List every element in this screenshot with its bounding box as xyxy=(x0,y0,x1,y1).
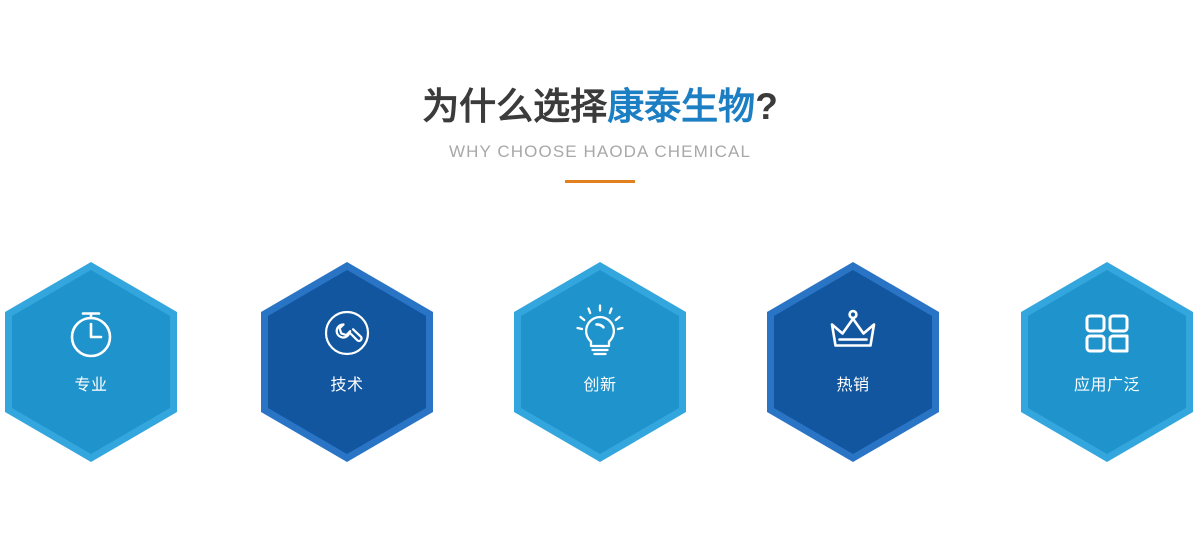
title-question-mark: ? xyxy=(755,86,778,127)
hexagon-content: 创新 xyxy=(514,262,686,462)
feature-label: 热销 xyxy=(836,376,869,396)
stopwatch-icon xyxy=(58,300,124,366)
wrench-circle-icon xyxy=(314,300,380,366)
feature-hexagon-热销[interactable]: 热销 xyxy=(767,262,939,462)
section-heading: 为什么选择康泰生物? WHY CHOOSE HAODA CHEMICAL xyxy=(0,82,1200,183)
feature-hexagon-技术[interactable]: 技术 xyxy=(261,262,433,462)
heading-divider xyxy=(565,180,635,183)
feature-hexagon-row: 专业 技术 xyxy=(0,262,1200,472)
feature-label: 应用广泛 xyxy=(1074,376,1140,396)
page-title: 为什么选择康泰生物? xyxy=(0,82,1200,132)
hexagon-content: 专业 xyxy=(5,262,177,462)
grid-squares-icon xyxy=(1074,300,1140,366)
section-subtitle: WHY CHOOSE HAODA CHEMICAL xyxy=(0,141,1200,163)
feature-hexagon-创新[interactable]: 创新 xyxy=(514,262,686,462)
hexagon-content: 应用广泛 xyxy=(1021,262,1193,462)
feature-label: 技术 xyxy=(330,376,363,396)
title-accent: 康泰生物 xyxy=(607,86,755,127)
hexagon-content: 技术 xyxy=(261,262,433,462)
hexagon-content: 热销 xyxy=(767,262,939,462)
crown-icon xyxy=(820,300,886,366)
title-prefix: 为什么选择 xyxy=(422,86,607,127)
feature-label: 专业 xyxy=(74,376,107,396)
feature-hexagon-应用广泛[interactable]: 应用广泛 xyxy=(1021,262,1193,462)
why-choose-us-section: 为什么选择康泰生物? WHY CHOOSE HAODA CHEMICAL 专业 xyxy=(0,0,1200,560)
lightbulb-icon xyxy=(567,300,633,366)
feature-label: 创新 xyxy=(583,376,616,396)
feature-hexagon-专业[interactable]: 专业 xyxy=(5,262,177,462)
